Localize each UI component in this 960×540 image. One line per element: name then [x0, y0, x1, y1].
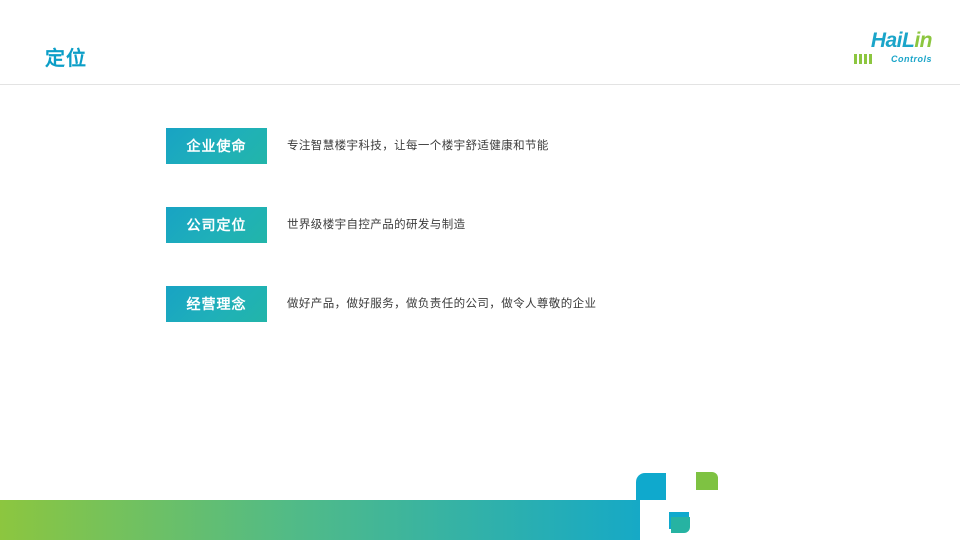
footer-gradient-band	[0, 500, 640, 540]
decorative-square-green	[696, 472, 718, 490]
row-text-mission: 专注智慧楼宇科技，让每一个楼宇舒适健康和节能	[287, 138, 549, 154]
row-tag-positioning: 公司定位	[166, 207, 267, 243]
list-item: 经营理念 做好产品，做好服务，做负责任的公司，做令人尊敬的企业	[166, 286, 866, 322]
logo-bars-icon	[854, 54, 872, 64]
row-text-philosophy: 做好产品，做好服务，做负责任的公司，做令人尊敬的企业	[287, 296, 596, 312]
slide: 定位 HaiLin Controls 企业使命 专注智慧楼宇科技，让每一个楼宇舒…	[0, 0, 960, 540]
row-tag-mission: 企业使命	[166, 128, 267, 164]
logo-wordmark-part2: in	[914, 29, 932, 52]
content-rows: 企业使命 专注智慧楼宇科技，让每一个楼宇舒适健康和节能 公司定位 世界级楼宇自控…	[166, 128, 866, 365]
list-item: 公司定位 世界级楼宇自控产品的研发与制造	[166, 207, 866, 243]
logo-wordmark-part1: HaiL	[871, 29, 915, 52]
row-text-positioning: 世界级楼宇自控产品的研发与制造	[287, 217, 466, 233]
brand-logo: HaiLin Controls	[822, 30, 932, 72]
list-item: 企业使命 专注智慧楼宇科技，让每一个楼宇舒适健康和节能	[166, 128, 866, 164]
decorative-square-large	[636, 473, 666, 500]
decorative-square-teal	[671, 517, 690, 533]
row-tag-philosophy: 经营理念	[166, 286, 267, 322]
logo-wordmark: HaiLin	[871, 30, 932, 51]
logo-tagline: Controls	[891, 54, 932, 64]
header-divider	[0, 84, 960, 85]
page-title: 定位	[45, 42, 87, 71]
